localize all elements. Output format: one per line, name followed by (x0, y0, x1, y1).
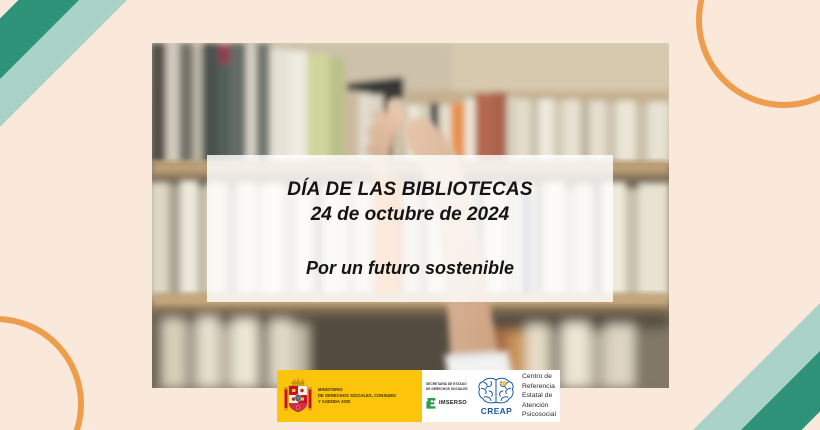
secretaria-estado-text: SECRETARÍA DE ESTADO DE DERECHOS SOCIALE… (426, 382, 473, 392)
corner-decoration-top-left (0, 0, 130, 130)
event-tagline: Por un futuro sostenible (306, 257, 514, 280)
event-date: 24 de octubre de 2024 (311, 202, 510, 227)
green-stripe-dark (690, 300, 820, 430)
creap-wordmark: CREAP (481, 406, 512, 416)
green-stripe-outer (0, 0, 114, 95)
poster-canvas: DÍA DE LAS BIBLIOTECAS 24 de octubre de … (0, 0, 820, 430)
imserso-wordmark: IMSERSO (439, 400, 467, 406)
creap-full-name: Centro de Referencia Estatal de Atención… (520, 372, 556, 420)
ministerio-line-3: Y AGENDA 2030 (318, 399, 396, 405)
creap-line-2: Referencia (522, 382, 556, 392)
page-title: DÍA DE LAS BIBLIOTECAS (287, 177, 532, 202)
corner-decoration-bottom-right (690, 300, 820, 430)
ministerio-text-block: MINISTERIO DE DERECHOS SOCIALES, CONSUMO… (318, 387, 396, 405)
orange-ring-bottom-left (0, 316, 84, 430)
creap-line-5: Psicosocial (522, 410, 556, 420)
logo-ministerio-derechos-sociales: MINISTERIO DE DERECHOS SOCIALES, CONSUMO… (277, 370, 422, 422)
creap-line-1: Centro de (522, 372, 556, 382)
spanish-coat-of-arms-icon (283, 377, 313, 415)
imserso-column: SECRETARÍA DE ESTADO DE DERECHOS SOCIALE… (426, 382, 473, 410)
green-stripe-outer (706, 335, 820, 430)
brain-icon (477, 376, 515, 406)
logo-bar: MINISTERIO DE DERECHOS SOCIALES, CONSUMO… (277, 370, 560, 422)
green-stripe-light (0, 0, 130, 130)
logo-imserso-creap-block: SECRETARÍA DE ESTADO DE DERECHOS SOCIALE… (422, 370, 560, 422)
creap-column: CREAP (476, 376, 517, 416)
imserso-lockup: IMSERSO (426, 397, 473, 410)
green-stripe-light (690, 300, 820, 430)
secretaria-line-2: DE DERECHOS SOCIALES (426, 387, 473, 392)
text-overlay-panel: DÍA DE LAS BIBLIOTECAS 24 de octubre de … (207, 155, 613, 302)
imserso-logo-icon (426, 397, 437, 410)
creap-line-4: Atención (522, 401, 556, 411)
creap-line-3: Estatal de (522, 391, 556, 401)
green-stripe-dark (0, 0, 130, 130)
orange-ring-top-right (696, 0, 820, 108)
